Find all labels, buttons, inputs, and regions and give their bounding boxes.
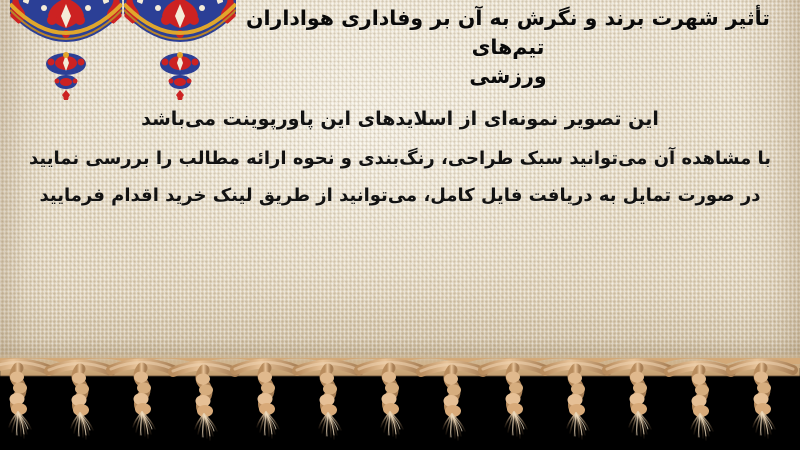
slide-title: تأثیر شهرت برند و نگرش به آن بر وفاداری … (230, 4, 786, 91)
slide-title-line-1: تأثیر شهرت برند و نگرش به آن بر وفاداری … (230, 4, 786, 62)
slide-title-line-2: ورزشی (230, 62, 786, 91)
body-line-2: با مشاهده آن می‌توانید سبک طراحی، رنگ‌بن… (0, 150, 800, 168)
black-backdrop (0, 370, 800, 450)
body-line-1: این تصویر نمونه‌ای از اسلایدهای این پاور… (0, 110, 800, 129)
body-line-3: در صورت تمایل به دریافت فایل کامل، می‌تو… (0, 187, 800, 205)
slide-body: این تصویر نمونه‌ای از اسلایدهای این پاور… (0, 110, 800, 205)
carpet-selvedge-edge (0, 352, 800, 376)
presentation-slide: تأثیر شهرت برند و نگرش به آن بر وفاداری … (0, 0, 800, 450)
